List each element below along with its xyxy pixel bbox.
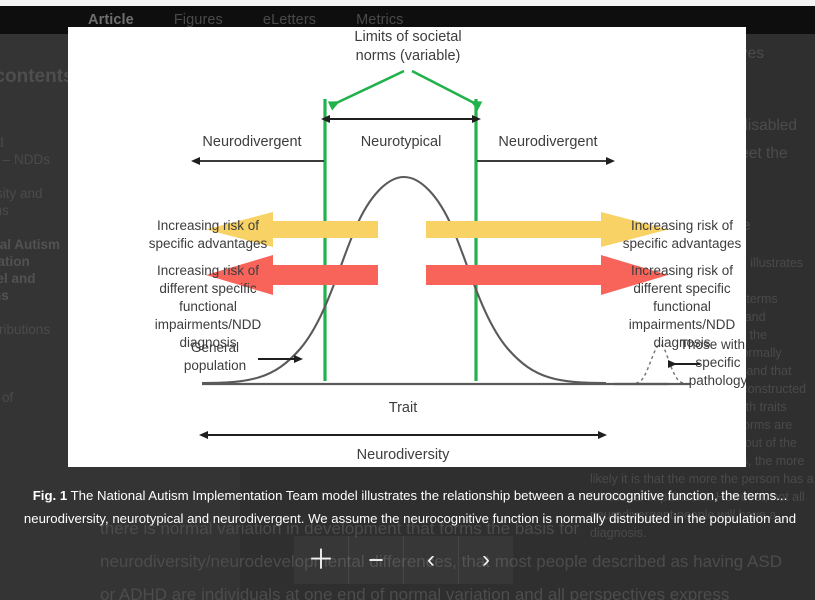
lightbox-screen: Article Figures eLetters Metrics Article… [0, 0, 815, 600]
previous-figure-button[interactable]: ‹ [404, 536, 459, 584]
neurodivergent-left-label: Neurodivergent [202, 134, 301, 150]
green-arrow-right [412, 71, 480, 106]
pathology-line1: Those with a [680, 337, 746, 352]
impairments-right-line2: different specific [633, 281, 731, 296]
tab-eletters[interactable]: eLetters [263, 12, 316, 28]
tab-figures[interactable]: Figures [174, 12, 223, 28]
zoom-out-button[interactable]: − [349, 536, 404, 584]
lightbox-caption: Fig. 1 The National Autism Implementatio… [10, 484, 810, 530]
caption-figure-number: Fig. 1 [33, 488, 67, 503]
figure-lightbox-panel: Limits of societal norms (variable) Neur… [68, 27, 746, 467]
pathology-line2: specific [695, 355, 740, 370]
advantages-left-line1: Increasing risk of [157, 218, 259, 233]
impairments-left-line1: Increasing risk of [157, 263, 259, 278]
limits-label-line1: Limits of societal [354, 29, 461, 45]
next-figure-button[interactable]: › [459, 536, 513, 584]
tab-article[interactable]: Article [88, 12, 134, 28]
pathology-line3: pathology [689, 373, 746, 388]
tab-metrics[interactable]: Metrics [356, 12, 403, 28]
general-population-line2: population [184, 358, 246, 373]
impairments-left-line2: different specific [159, 281, 257, 296]
caption-line-2: neurodiversity, neurotypical and neurodi… [10, 507, 810, 530]
zoom-in-button[interactable]: ＋ [294, 536, 349, 584]
impairments-left-line3: functional [179, 299, 237, 314]
lightbox-toolbar: ＋ − ‹ › [294, 536, 513, 584]
neurodivergent-right-label: Neurodivergent [498, 134, 597, 150]
nait-model-figure: Limits of societal norms (variable) Neur… [68, 27, 746, 467]
caption-line-1: The National Autism Implementation Team … [67, 488, 787, 503]
limits-label-line2: norms (variable) [356, 48, 461, 64]
trait-label: Trait [389, 400, 417, 416]
advantages-right-line2: specific advantages [623, 236, 742, 251]
impairments-left-line4: impairments/NDD [155, 317, 262, 332]
impairments-right-line3: functional [653, 299, 711, 314]
green-arrow-left [330, 71, 404, 106]
neurotypical-label: Neurotypical [361, 134, 442, 150]
general-population-line1: General [191, 340, 239, 355]
impairments-right-line1: Increasing risk of [631, 263, 733, 278]
advantages-left-line2: specific advantages [149, 236, 268, 251]
advantages-right-line1: Increasing risk of [631, 218, 733, 233]
impairments-right-line4: impairments/NDD [629, 317, 736, 332]
neurodiversity-label: Neurodiversity [357, 447, 450, 463]
